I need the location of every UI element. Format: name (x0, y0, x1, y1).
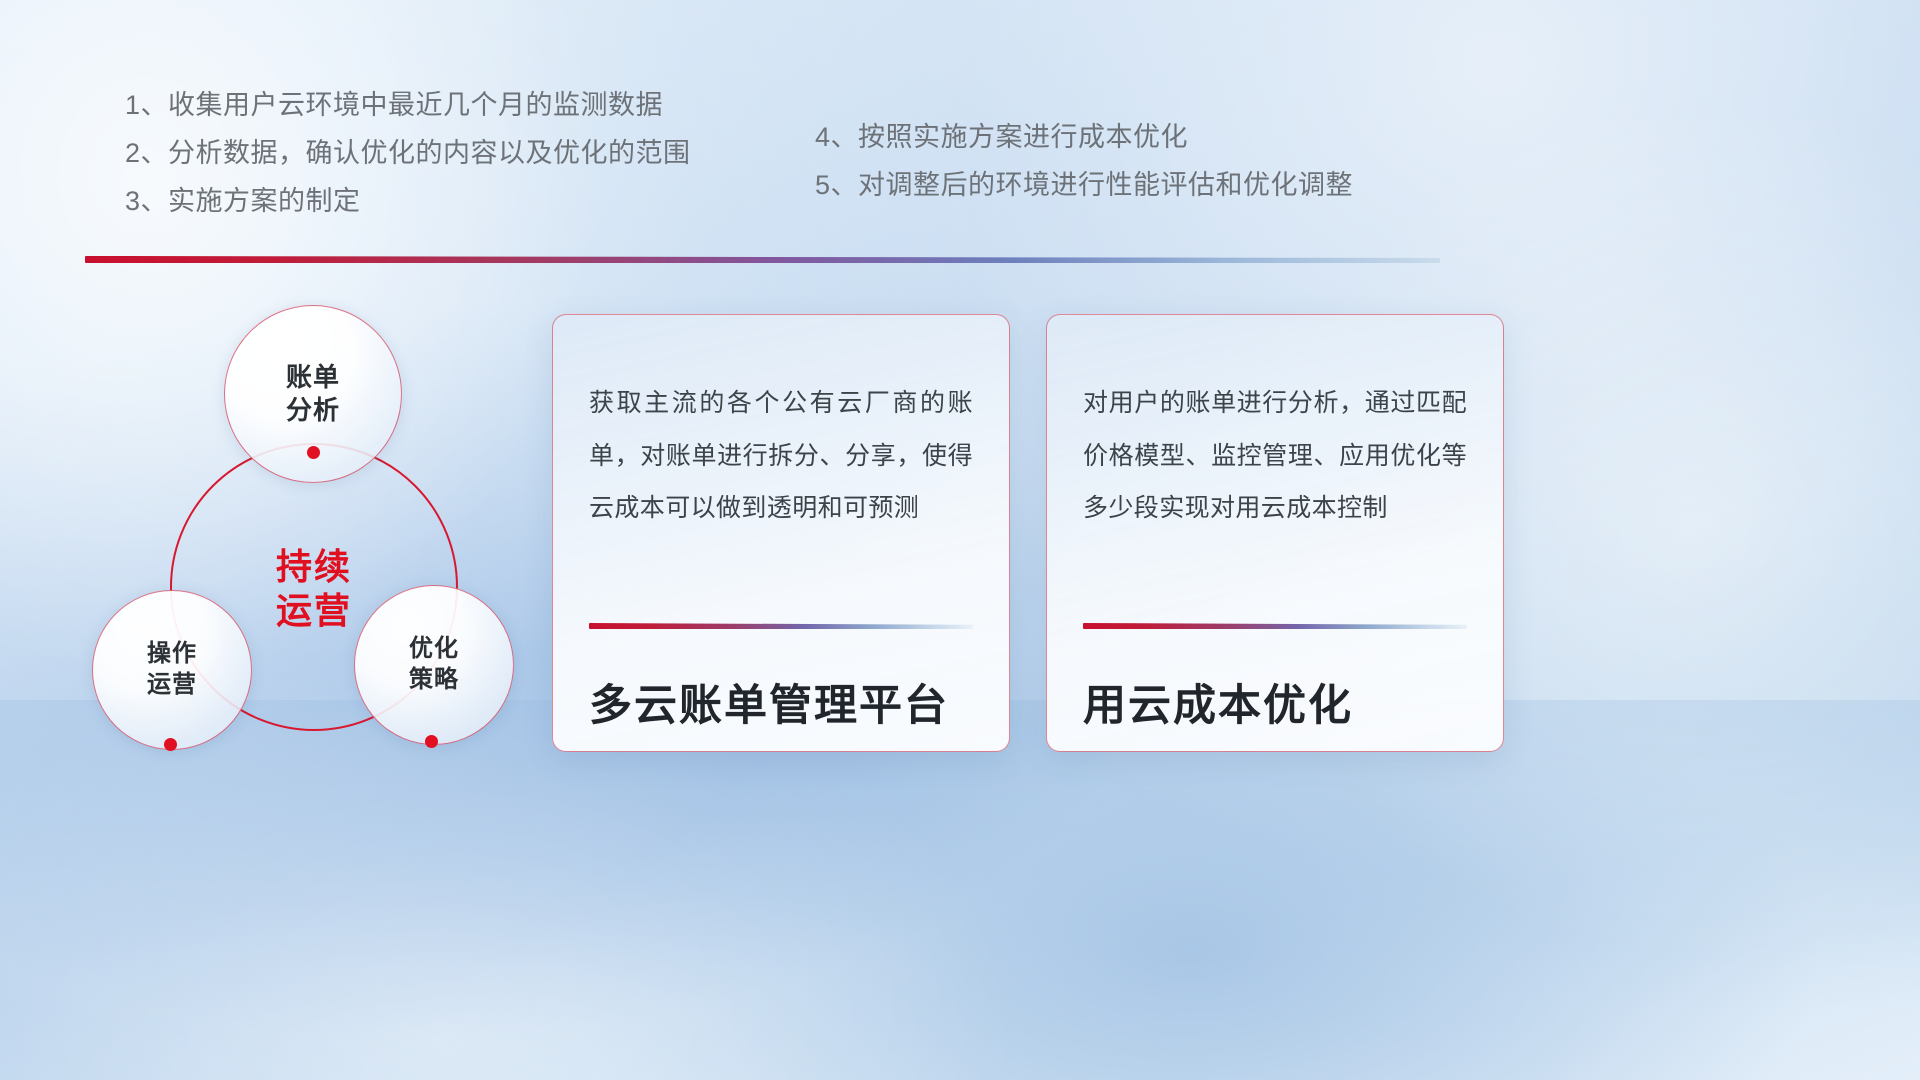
step-item-1: 1、收集用户云环境中最近几个月的监测数据 (125, 92, 815, 119)
venn-lobe-label: 优化 策略 (409, 634, 459, 695)
steps-section: 1、收集用户云环境中最近几个月的监测数据 2、分析数据，确认优化的内容以及优化的… (125, 92, 1825, 215)
steps-column-left: 1、收集用户云环境中最近几个月的监测数据 2、分析数据，确认优化的内容以及优化的… (125, 92, 815, 215)
card-divider (1083, 623, 1467, 629)
card-title: 用云成本优化 (1083, 683, 1467, 730)
step-item-3: 3、实施方案的制定 (125, 188, 815, 215)
step-item-2: 2、分析数据，确认优化的内容以及优化的范围 (125, 140, 815, 167)
venn-lobe-strategy-line1: 优化 (409, 634, 459, 665)
venn-diagram: 持续 运营 账单 分析 操作 运营 优化 策略 (78, 300, 548, 770)
venn-center-label: 持续 运营 (276, 545, 352, 633)
venn-lobe-operations[interactable]: 操作 运营 (92, 590, 252, 750)
card-cloud-cost-optimization[interactable]: 对用户的账单进行分析，通过匹配价格模型、监控管理、应用优化等多少段实现对用云成本… (1046, 314, 1504, 752)
venn-center-label-line2: 运营 (276, 589, 352, 633)
card-divider (589, 623, 973, 629)
venn-lobe-billing-line1: 账单 (286, 361, 340, 394)
steps-column-right: 4、按照实施方案进行成本优化 5、对调整后的环境进行性能评估和优化调整 (815, 92, 1515, 199)
step-item-4: 4、按照实施方案进行成本优化 (815, 124, 1515, 151)
venn-lobe-strategy-line2: 策略 (409, 665, 459, 696)
venn-lobe-optimization-strategy[interactable]: 优化 策略 (354, 585, 514, 745)
step-item-5: 5、对调整后的环境进行性能评估和优化调整 (815, 172, 1515, 199)
venn-node-dot-top (307, 446, 320, 459)
card-title: 多云账单管理平台 (589, 683, 973, 730)
venn-center-label-line1: 持续 (276, 545, 352, 589)
venn-lobe-operations-line2: 运营 (147, 670, 197, 701)
venn-node-dot-bottom-left (164, 738, 177, 751)
venn-lobe-label: 操作 运营 (147, 639, 197, 700)
venn-lobe-billing-line2: 分析 (286, 394, 340, 427)
venn-node-dot-bottom-right (425, 735, 438, 748)
card-body-text: 获取主流的各个公有云厂商的账单，对账单进行拆分、分享，使得云成本可以做到透明和可… (589, 377, 973, 609)
card-body-text: 对用户的账单进行分析，通过匹配价格模型、监控管理、应用优化等多少段实现对用云成本… (1083, 377, 1467, 609)
venn-lobe-operations-line1: 操作 (147, 639, 197, 670)
card-multi-cloud-billing-platform[interactable]: 获取主流的各个公有云厂商的账单，对账单进行拆分、分享，使得云成本可以做到透明和可… (552, 314, 1010, 752)
venn-lobe-label: 账单 分析 (286, 361, 340, 428)
